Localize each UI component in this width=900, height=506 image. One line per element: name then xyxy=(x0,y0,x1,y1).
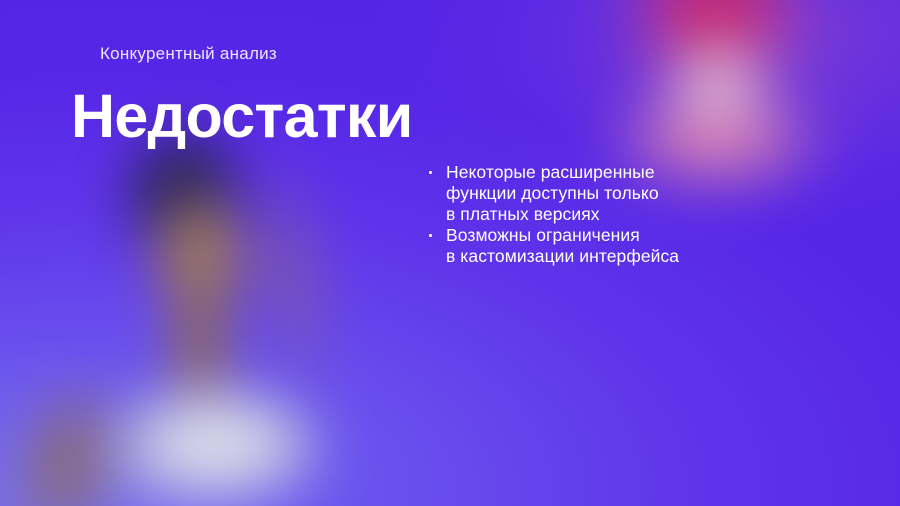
page-title: Недостатки xyxy=(71,86,412,147)
bullet-dot-icon xyxy=(429,171,432,174)
slide-eyebrow-label: Конкурентный анализ xyxy=(100,44,277,64)
bullet-line: в кастомизации интерфейса xyxy=(446,246,727,267)
slide-content: Конкурентный анализ Недостатки Некоторые… xyxy=(0,0,900,506)
bullet-line: в платных версиях xyxy=(446,204,727,225)
bullet-line: функции доступны только xyxy=(446,183,727,204)
bullet-line: Некоторые расширенные xyxy=(446,162,727,183)
bullet-line: Возможны ограничения xyxy=(446,225,727,246)
presentation-slide: Конкурентный анализ Недостатки Некоторые… xyxy=(0,0,900,506)
list-item: Возможны ограничения в кастомизации инте… xyxy=(427,225,727,267)
list-item: Некоторые расширенные функции доступны т… xyxy=(427,162,727,225)
drawbacks-bullet-list: Некоторые расширенные функции доступны т… xyxy=(427,162,727,267)
bullet-dot-icon xyxy=(429,234,432,237)
